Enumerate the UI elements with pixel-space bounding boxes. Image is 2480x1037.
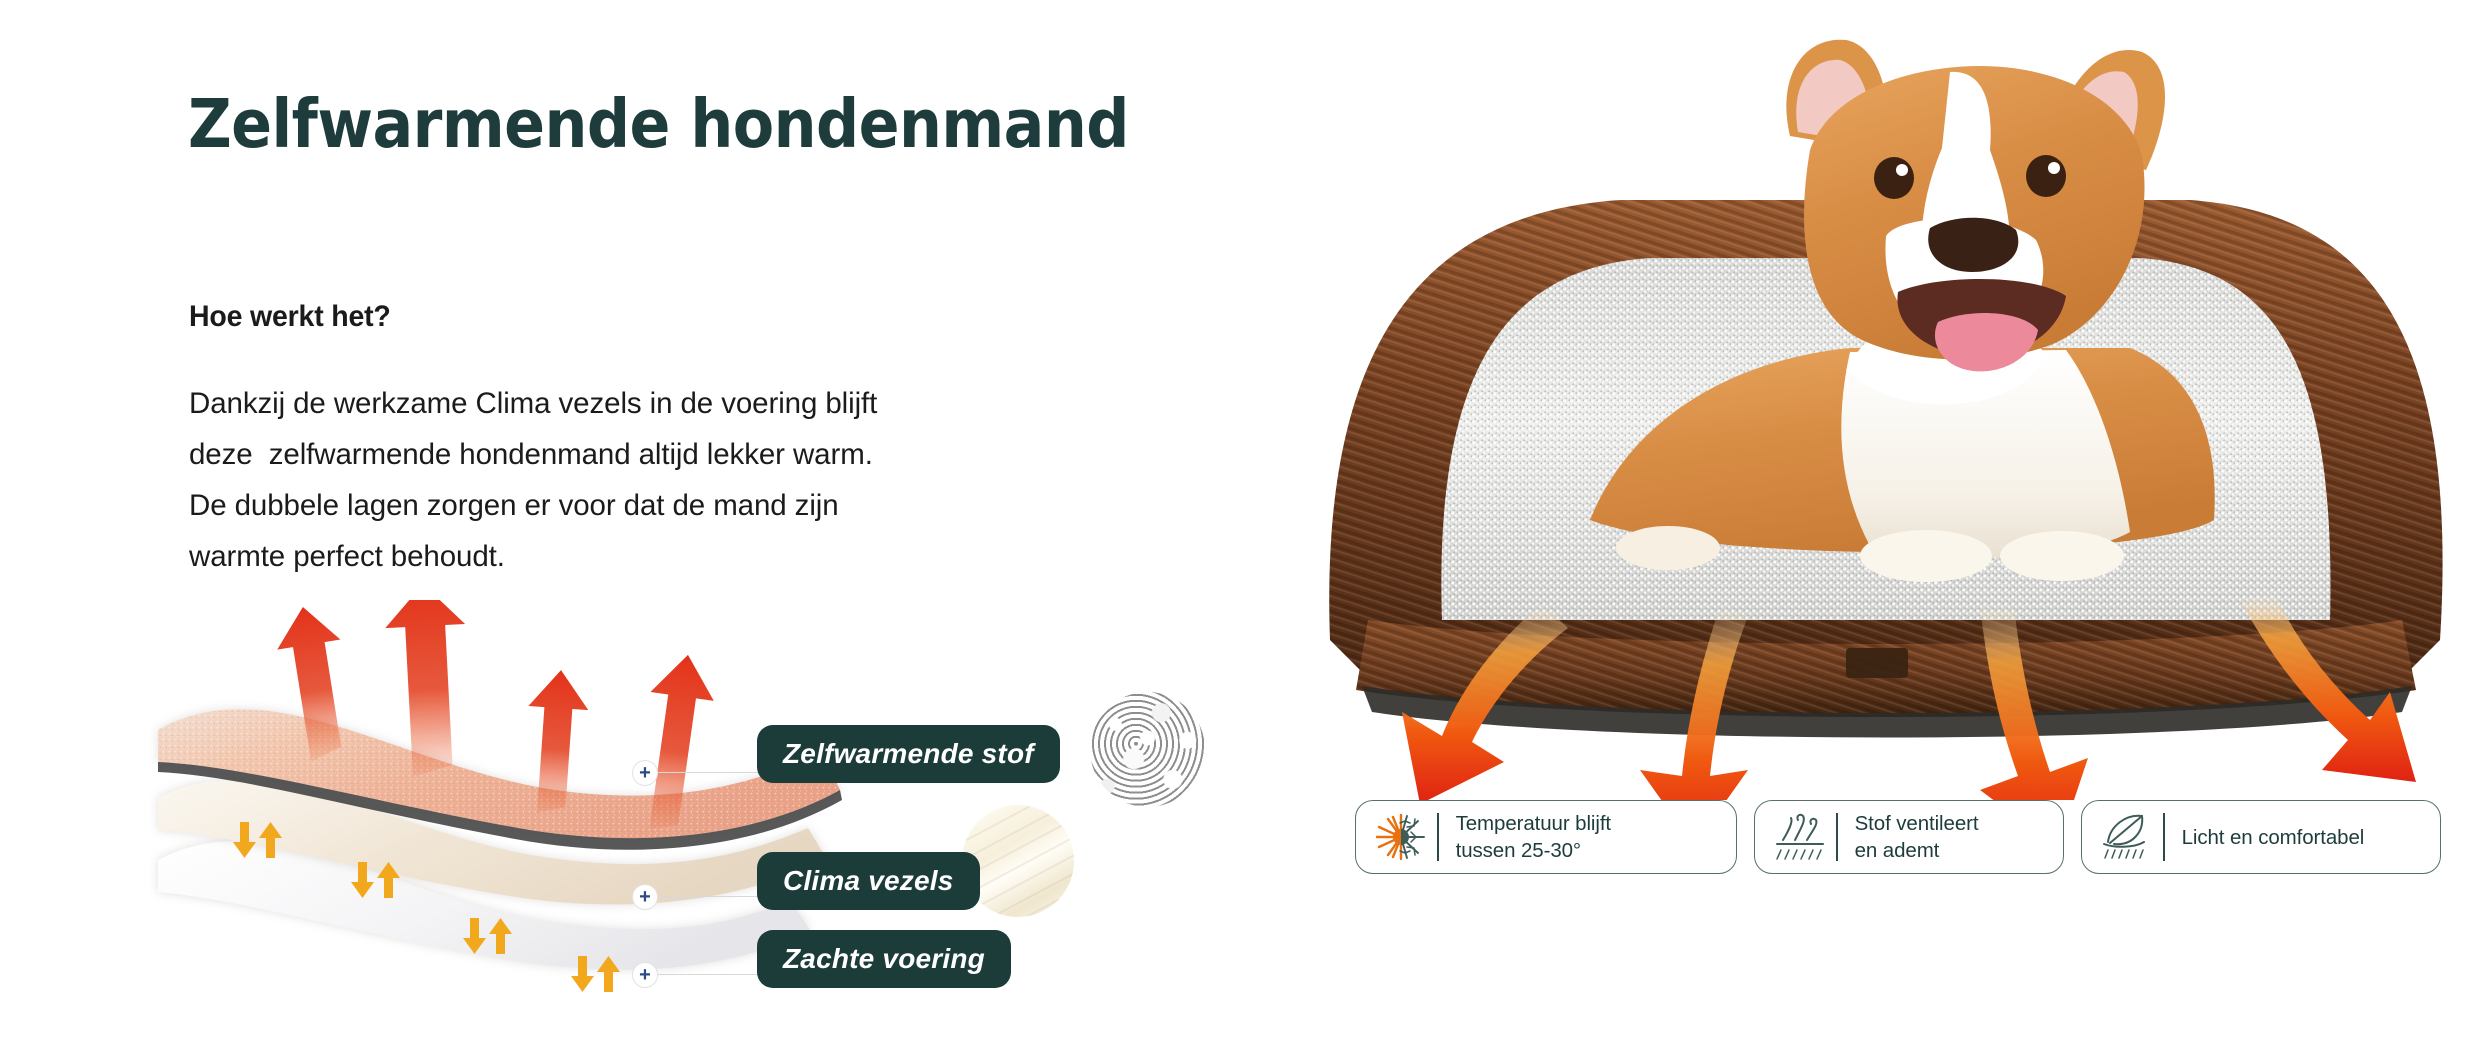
card-divider — [1437, 813, 1439, 861]
feature-line: Stof ventileert — [1855, 810, 1979, 837]
layer-label-self-warming-fabric[interactable]: Zelfwarmende stof — [757, 725, 1060, 783]
body-line: De dubbele lagen zorgen er voor dat de m… — [189, 480, 1129, 531]
product-photo-dog-on-bed — [1290, 0, 2480, 800]
feature-line: Temperatuur blijft — [1456, 810, 1611, 837]
dog-eye-left — [1874, 157, 1914, 199]
feature-card-text: Temperatuur blijft tussen 25-30° — [1456, 810, 1611, 864]
body-line: deze zelfwarmende hondenmand altijd lekk… — [189, 429, 1129, 480]
card-divider — [1836, 813, 1838, 861]
card-divider — [2163, 813, 2165, 861]
feature-line: Licht en comfortabel — [2182, 824, 2365, 851]
bed-brand-tag — [1846, 648, 1908, 678]
product-info-banner: Zelfwarmende hondenmand Hoe werkt het? D… — [0, 0, 2480, 1037]
left-content-column: Zelfwarmende hondenmand Hoe werkt het? D… — [0, 0, 1260, 1037]
plus-marker-icon[interactable]: + — [632, 884, 658, 910]
leader-line — [658, 772, 763, 773]
body-line: warmte perfect behoudt. — [189, 531, 1129, 582]
sun-snowflake-icon — [1372, 808, 1430, 866]
layer-label-soft-lining[interactable]: Zachte voering — [757, 930, 1011, 988]
feature-line: en ademt — [1855, 837, 1979, 864]
layer-label-text: Zelfwarmende stof — [783, 738, 1034, 770]
body-paragraph: Dankzij de werkzame Clima vezels in de v… — [189, 378, 1129, 582]
body-line: Dankzij de werkzame Clima vezels in de v… — [189, 378, 1129, 429]
layer-label-text: Clima vezels — [783, 865, 954, 897]
boucle-texture-swatch — [1090, 692, 1205, 807]
dog-eye-right — [2026, 155, 2066, 197]
feature-card-text: Licht en comfortabel — [2182, 824, 2365, 851]
fabric-layers-illustration — [150, 600, 850, 1000]
plus-marker-icon[interactable]: + — [632, 962, 658, 988]
section-subheading: Hoe werkt het? — [189, 300, 391, 334]
layer-label-clima-fibres[interactable]: Clima vezels — [757, 852, 980, 910]
feature-card-text: Stof ventileert en ademt — [1855, 810, 1979, 864]
leader-line — [658, 974, 763, 975]
leader-line — [658, 896, 763, 897]
feature-card-lightweight[interactable]: Licht en comfortabel — [2081, 800, 2441, 874]
feature-card-temperature[interactable]: Temperatuur blijft tussen 25-30° — [1355, 800, 1737, 874]
airflow-icon — [1771, 808, 1829, 866]
feature-card-row: Temperatuur blijft tussen 25-30° — [1355, 800, 2445, 890]
layer-label-text: Zachte voering — [783, 943, 985, 975]
plus-marker-icon[interactable]: + — [632, 760, 658, 786]
leaf-icon — [2098, 808, 2156, 866]
feature-line: tussen 25-30° — [1456, 837, 1611, 864]
page-title: Zelfwarmende hondenmand — [188, 90, 1129, 158]
feature-card-breathability[interactable]: Stof ventileert en ademt — [1754, 800, 2064, 874]
